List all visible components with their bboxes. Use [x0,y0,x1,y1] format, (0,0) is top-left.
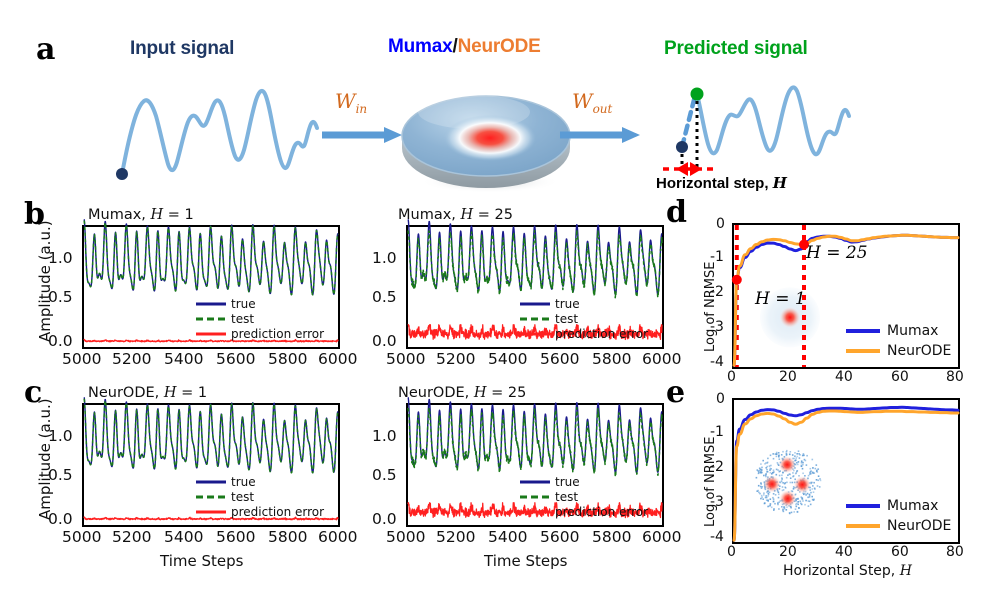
legend-label-mumax: Mumax [887,323,938,339]
legend-swatch-mumax [846,326,880,336]
panel-d-ylabel: Log of NRMSE [703,262,718,352]
panel-letter-d: d [666,198,687,228]
predicted-point-marker [691,88,704,101]
legend-label-test: test [555,490,578,504]
panel-e-ytick-3: -2 [710,459,724,475]
legend-swatch-true [520,299,550,309]
panel-b-left-xtick-2: 5200 [112,350,151,368]
legend-label-error: prediction error [231,327,324,341]
panel-b-right-xtick-4: 5600 [540,350,579,368]
legend-label-error: prediction error [555,327,648,341]
panel-e-xtick-1: 0 [727,544,736,560]
panel-d-xtick-2: 20 [779,369,797,385]
panel-c-right-ytick-1: 1.0 [372,427,397,445]
panel-b-left-ytick-2: 0.5 [48,288,73,306]
panel-b-left-ytick-1: 1.0 [48,249,73,267]
legend-label-error: prediction error [555,505,648,519]
legend-label-test: test [231,490,254,504]
horizontal-step-caption: Horizontal step, H [656,174,787,192]
panel-b-right-xtick-2: 5200 [436,350,475,368]
panel-e-xlabel: Horizontal Step, H [783,563,912,579]
panel-d-ytick-2: -1 [710,249,724,265]
panel-d-legend: Mumax NeurODE [846,321,951,361]
panel-c-left-legend: true test prediction error [196,474,324,519]
panel-d-annotation-h25: H = 25 [806,243,868,263]
panel-b-right-ytick-1: 1.0 [372,249,397,267]
panel-letter-a: a [36,35,55,65]
w-in-arrow-icon [322,125,402,145]
prediction-jump-line [682,96,695,147]
panel-c-left-xlabel: Time Steps [160,552,243,570]
legend-label-error: prediction error [231,505,324,519]
panel-b-right-xtick-6: 6000 [642,350,681,368]
predicted-signal-title: Predicted signal [664,38,808,60]
current-point-marker [676,141,688,153]
panel-c-right-xtick-2: 5200 [436,528,475,546]
panel-d-ytick-1: 0 [716,216,725,232]
reservoir-title-mumax: Mumax [388,36,452,57]
panel-c-left-ytick-3: 0.0 [48,510,73,528]
panel-b-left-xtick-5: 5800 [268,350,307,368]
legend-label-true: true [555,297,580,311]
legend-label-neurode: NeurODE [887,518,951,534]
panel-e-ytick-4: -3 [710,494,724,510]
panel-c-right-xtick-1: 5000 [386,528,425,546]
panel-b-right-title: Mumax, H = 25 [398,207,513,223]
panel-b-right-xtick-3: 5400 [488,350,527,368]
panel-c-left-xtick-1: 5000 [62,528,101,546]
panel-letter-e: e [666,378,685,408]
legend-swatch-neurode [846,521,880,531]
panel-b-left-xtick-4: 5600 [216,350,255,368]
panel-c-right-ytick-2: 0.5 [372,466,397,484]
legend-swatch-error [520,329,550,339]
panel-b-right-xtick-1: 5000 [386,350,425,368]
legend-label-true: true [555,475,580,489]
panel-c-left-title: NeurODE, H = 1 [88,385,207,401]
panel-b-right-legend: true test prediction error [520,296,648,341]
panel-e-ytick-2: -1 [710,424,724,440]
legend-label-test: test [555,312,578,326]
panel-c-right-xtick-5: 5800 [592,528,631,546]
legend-swatch-error [520,507,550,517]
panel-e-xtick-4: 60 [891,544,909,560]
panel-d-xtick-5: 80 [946,369,964,385]
legend-swatch-neurode [846,346,880,356]
panel-b-right-ytick-3: 0.0 [372,332,397,350]
panel-d-xtick-3: 40 [835,369,853,385]
legend-swatch-true [196,477,226,487]
panel-c-left-xtick-5: 5800 [268,528,307,546]
panel-b-left-legend: true test prediction error [196,296,324,341]
input-signal-title: Input signal [130,38,234,60]
panel-e-ylabel: Log of NRMSE [703,437,718,527]
panel-c-right-title: NeurODE, H = 25 [398,385,526,401]
legend-swatch-test [196,314,226,324]
panel-b-left-xtick-1: 5000 [62,350,101,368]
panel-c-left-xtick-3: 5400 [164,528,203,546]
legend-label-neurode: NeurODE [887,343,951,359]
panel-e-xtick-2: 20 [779,544,797,560]
panel-e-legend: Mumax NeurODE [846,496,951,536]
panel-b-right-ytick-2: 0.5 [372,288,397,306]
panel-c-ylabel: Amplitude (a.u.) [36,398,54,520]
w-out-label: Wout [572,89,612,116]
panel-b-ylabel: Amplitude (a.u.) [36,220,54,342]
legend-label-mumax: Mumax [887,498,938,514]
panel-b-left-ytick-3: 0.0 [48,332,73,350]
panel-c-left-ytick-2: 0.5 [48,466,73,484]
input-start-marker [116,168,128,180]
panel-b-left-title: Mumax, H = 1 [88,207,194,223]
panel-d-xtick-4: 60 [891,369,909,385]
legend-swatch-test [520,314,550,324]
panel-c-left-xtick-6: 6000 [318,528,357,546]
figure-root: a Input signal Mumax/NeurODE Predicted s… [0,0,982,593]
panel-c-left-xtick-4: 5600 [216,528,255,546]
w-in-label: Win [335,89,367,116]
panel-d-ytick-4: -3 [710,319,724,335]
legend-swatch-error [196,507,226,517]
legend-label-test: test [231,312,254,326]
panel-c-left-xtick-2: 5200 [112,528,151,546]
w-out-arrow-icon [560,125,640,145]
panel-e-xtick-3: 40 [835,544,853,560]
panel-b-right-xtick-5: 5800 [592,350,631,368]
legend-swatch-true [196,299,226,309]
panel-c-right-ytick-3: 0.0 [372,510,397,528]
reservoir-title: Mumax/NeurODE [388,36,541,58]
panel-c-left-ytick-1: 1.0 [48,427,73,445]
panel-d-annotation-h1: H = 1 [755,289,806,309]
legend-swatch-test [520,492,550,502]
reservoir-title-neurode: NeurODE [458,36,541,57]
panel-d-ytick-5: -4 [710,354,724,370]
panel-c-right-xtick-4: 5600 [540,528,579,546]
reservoir-disk-icon [398,82,573,194]
panel-e-ytick-5: -4 [710,529,724,545]
panel-c-right-xtick-6: 6000 [642,528,681,546]
legend-swatch-test [196,492,226,502]
panel-b-left-xtick-6: 6000 [318,350,357,368]
panel-d-ytick-3: -2 [710,284,724,300]
panel-c-right-legend: true test prediction error [520,474,648,519]
predicted-signal-waveform [660,76,875,176]
legend-label-true: true [231,297,256,311]
panel-d-xtick-1: 0 [727,369,736,385]
legend-label-true: true [231,475,256,489]
panel-c-right-xtick-3: 5400 [488,528,527,546]
legend-swatch-mumax [846,501,880,511]
panel-e-xtick-5: 80 [946,544,964,560]
panel-b-left-xtick-3: 5400 [164,350,203,368]
legend-swatch-true [520,477,550,487]
input-signal-waveform [110,72,325,177]
panel-c-right-xlabel: Time Steps [484,552,567,570]
legend-swatch-error [196,329,226,339]
panel-e-ytick-1: 0 [716,391,725,407]
